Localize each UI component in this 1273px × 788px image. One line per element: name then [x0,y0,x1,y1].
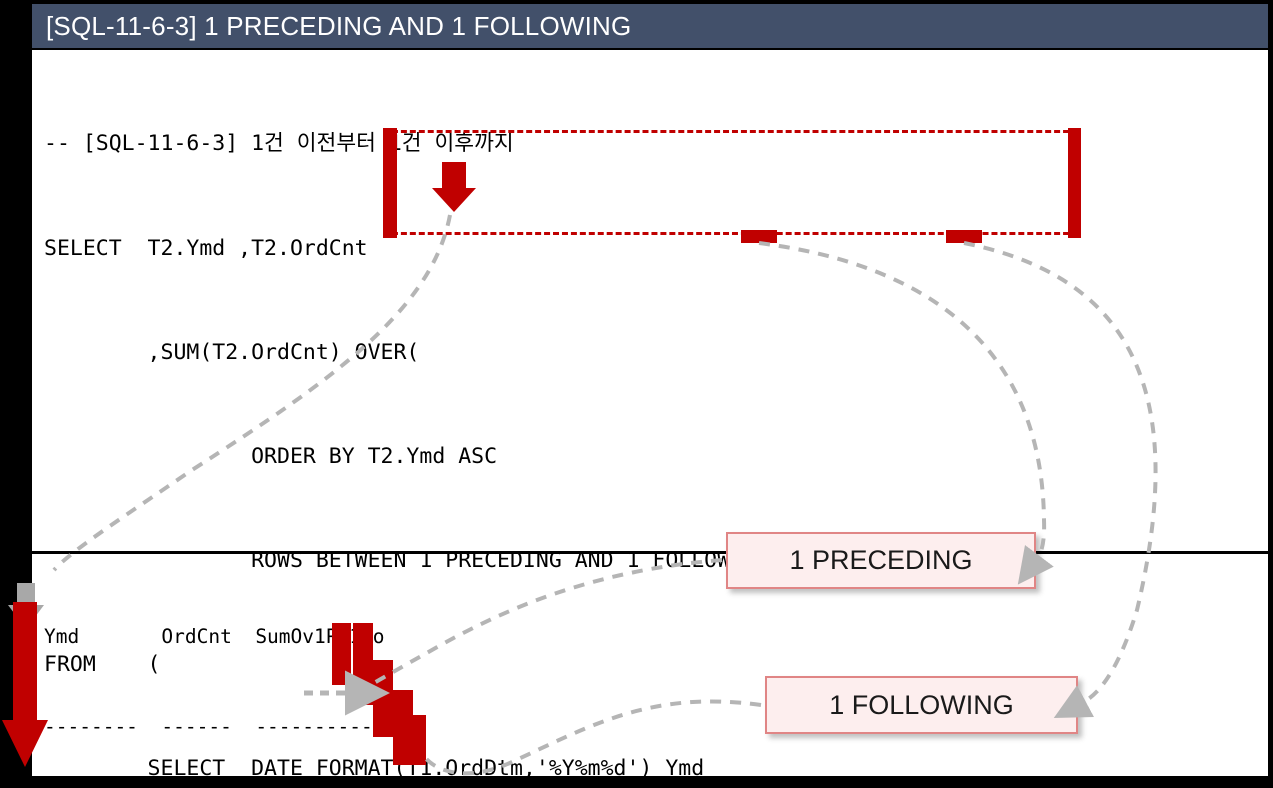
callout-1-label: 1 PRECEDING [789,545,972,576]
code-line: ,SUM(T2.OrdCnt) OVER( [44,336,937,371]
code-line: ORDER BY T2.Ymd ASC [44,440,937,475]
callout-2-label: 1 FOLLOWING [829,690,1014,721]
connector-following-tab-to-callout [964,243,1156,703]
slide-header: [SQL-11-6-3] 1 PRECEDING AND 1 FOLLOWING [32,4,1268,48]
window-bar-2 [353,623,373,705]
over-box-preceding-tab [741,230,777,243]
over-box-left-edge [383,128,397,238]
window-bar-5 [406,715,426,765]
content-panel: -- [SQL-11-6-3] 1건 이전부터 1건 이후까지 SELECT T… [32,50,1268,780]
page-title: [SQL-11-6-3] 1 PRECEDING AND 1 FOLLOWING [32,11,631,42]
code-line: SELECT T2.Ymd ,T2.OrdCnt [44,232,937,267]
red-down-arrow-icon [432,162,476,212]
callout-1-preceding[interactable]: 1 PRECEDING [726,532,1036,589]
result-rule-row: -------- ------ ----------- [44,712,384,742]
code-line: -- [SQL-11-6-3] 1건 이전부터 1건 이후까지 [44,127,937,162]
over-box-following-tab [946,230,982,243]
red-large-down-arrow-icon [2,602,48,767]
window-bar-1 [332,623,351,685]
result-separator-line [32,551,1268,554]
slide-root: [SQL-11-6-3] 1 PRECEDING AND 1 FOLLOWING… [0,0,1273,788]
callout-2-following[interactable]: 1 FOLLOWING [765,676,1078,734]
over-box-right-edge [1068,128,1081,238]
window-bar-3 [373,660,393,737]
